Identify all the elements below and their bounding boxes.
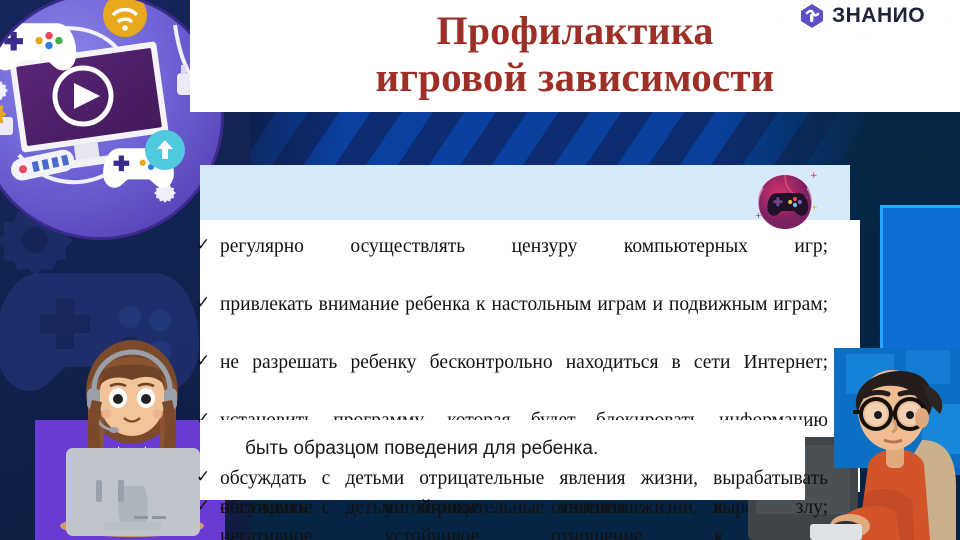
title-line-2: игровой зависимости bbox=[190, 54, 960, 100]
svg-text:+: + bbox=[811, 203, 818, 212]
overlay-text-line-top: быть образцом поведения для ребенка. bbox=[245, 437, 825, 461]
slide-root: Профилактика игровой зависимости ЗНАНИО bbox=[0, 0, 960, 540]
gamepad-planet-icon: + + + bbox=[751, 168, 819, 236]
bullet-list-overlay: ✓x ✓x x x ✓x x x ✓x x x x ✓ обсуждать с … bbox=[196, 232, 828, 540]
checkmark-icon: ✓ bbox=[196, 464, 212, 491]
svg-text:+: + bbox=[755, 211, 762, 220]
znanio-logo-text: ЗНАНИО bbox=[832, 4, 925, 28]
boy-at-computer-illustration bbox=[810, 348, 960, 540]
list-item-text: обсуждать с детьми отрицательные явления… bbox=[220, 464, 828, 540]
znanio-mark-icon bbox=[799, 3, 825, 29]
list-item: ✓ обсуждать с детьми отрицательные явлен… bbox=[196, 464, 828, 540]
svg-text:+: + bbox=[810, 171, 818, 181]
